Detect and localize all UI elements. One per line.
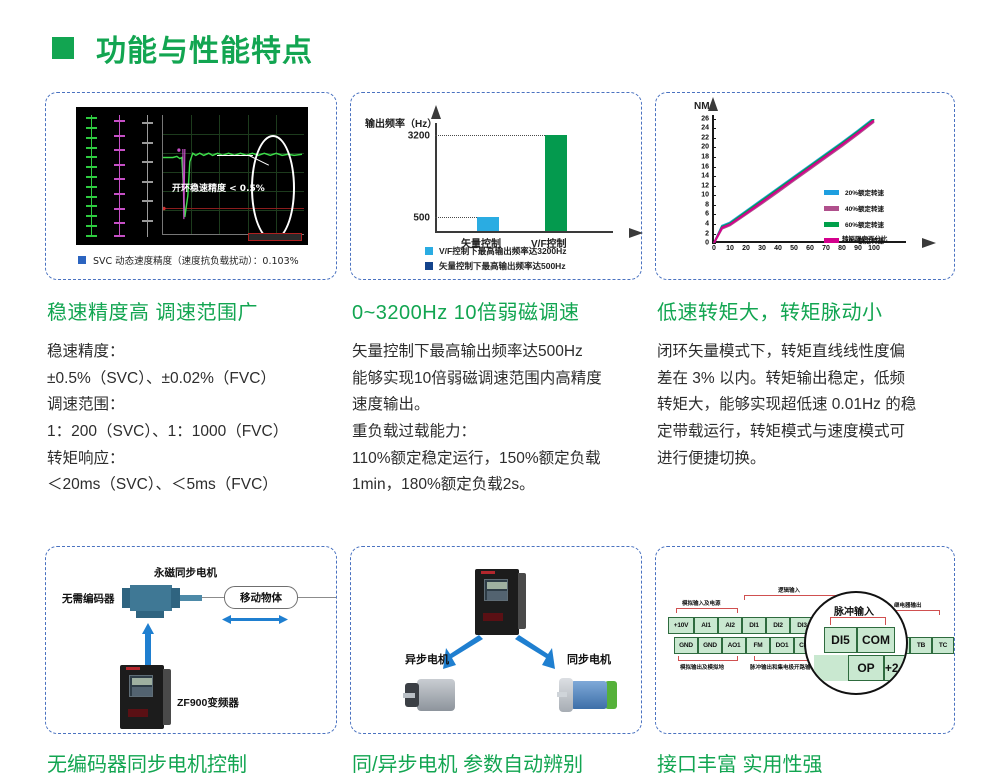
motor-base [136, 611, 164, 618]
motor-body [417, 679, 455, 711]
line-xtick: 40 [774, 245, 782, 252]
bar-gridline-500: 500 [435, 217, 481, 218]
y-axis-arrow-icon [708, 97, 718, 111]
page-header: 功能与性能特点 [52, 26, 313, 70]
vfd-device-image [475, 569, 519, 635]
body-line: 进行便捷切换。 [657, 446, 960, 473]
vfd-keys [487, 591, 507, 600]
legend-swatch-icon [824, 190, 839, 195]
body-line: 调速范围： [47, 392, 350, 419]
card-bar-chart: 输出频率（Hz） 500 3200 矢量控制 V/F控制 [350, 92, 642, 280]
bidirectional-arrow-icon [222, 615, 288, 624]
line-ytick: 6 [705, 211, 709, 218]
bracket-analog-input [676, 608, 738, 613]
body-line: 差在 3% 以内。转矩输出稳定，低频 [657, 366, 960, 393]
legend-swatch-icon [824, 222, 839, 227]
card-scope: 开环稳速精度 < 0.5% SVC 动态速度精度（速度抗负载扰动）：0.103% [45, 92, 337, 280]
vfd-label-mark [483, 613, 503, 621]
legend-label: 40%额定转速 [845, 203, 884, 213]
magnifier-circle: 脉冲输入 DI5 COM OP +24V [804, 591, 908, 695]
bar-chart-x-axis [435, 231, 613, 233]
motor-shaft [403, 693, 415, 698]
vfd-display [132, 678, 152, 685]
line-ytick: 2 [705, 230, 709, 237]
body-line: 转矩响应： [47, 446, 350, 473]
moving-object-box: 移动物体 [224, 586, 298, 609]
line-ytick: 8 [705, 201, 709, 208]
sync-motor-image [557, 675, 623, 717]
async-motor-label: 异步电机 [405, 651, 449, 667]
terminal[interactable]: DI2 [766, 617, 790, 634]
feature-column-5: 异步电机 同步电机 同/异步电机 参数自动辨别 [350, 546, 655, 777]
async-motor-image [403, 675, 465, 717]
bottom-title-2: 同/异步电机 参数自动辨别 [352, 748, 655, 777]
bottom-title-1: 无编码器同步电机控制 [47, 748, 350, 777]
legend-label: 80%额定转速 [845, 235, 884, 245]
terminal-left-filler [814, 655, 848, 681]
line-ytick: 4 [705, 221, 709, 228]
line-xtick: 60 [806, 245, 814, 252]
feature-column-3: NM 0 2 4 6 8 10 12 14 16 18 20 [655, 92, 960, 499]
column-body-1: 稳速精度： ±0.5%（SVC）、±0.02%（FVC） 调速范围： 1：200… [47, 339, 350, 499]
caption-bullet-icon [78, 256, 86, 264]
line-ytick: 0 [705, 240, 709, 247]
vfd-brand-stripe [126, 667, 140, 670]
label-relay-output: 继电器输出 [894, 601, 922, 609]
vfd-keypad [484, 579, 508, 601]
legend-item: 40%额定转速 [824, 203, 884, 213]
legend-label: 60%额定转速 [845, 219, 884, 229]
bracket-pulse-input [830, 617, 886, 625]
body-line: 能够实现10倍弱磁调速范围内高精度 [352, 366, 655, 393]
body-line: ±0.5%（SVC）、±0.02%（FVC） [47, 366, 350, 393]
line-chart-legend: 20%额定转速 40%额定转速 60%额定转速 80%额定转速 [824, 187, 884, 251]
legend-item: V/F控制下最高输出频率达3200Hz [425, 245, 567, 257]
bar-chart-plot: 500 3200 矢量控制 V/F控制 [435, 129, 595, 233]
line-ytick: 20 [701, 144, 709, 151]
motor-body [130, 585, 172, 611]
label-pulse-output: 脉冲输出和集电极开路输出 [750, 663, 816, 671]
motor-shaft [180, 595, 202, 601]
bar-chart-legend: V/F控制下最高输出频率达3200Hz 矢量控制下最高输出频率达500Hz [425, 245, 567, 275]
scope-scale-grey [138, 115, 156, 237]
body-line: 1：200（SVC）、1：1000（FVC） [47, 419, 350, 446]
terminal[interactable]: DI1 [742, 617, 766, 634]
pmsm-motor-label: 永磁同步电机 [154, 565, 217, 580]
arrow-to-sync-motor-icon [513, 635, 555, 673]
terminal-op[interactable]: OP [848, 655, 884, 681]
line-ytick: 18 [701, 154, 709, 161]
line-xtick: 20 [742, 245, 750, 252]
bracket-logic-input [744, 595, 836, 600]
legend-item: 80%额定转速 [824, 235, 884, 245]
label-logic-input: 逻辑输入 [778, 586, 800, 594]
column-body-2: 矢量控制下最高输出频率达500Hz 能够实现10倍弱磁调速范围内高精度 速度输出… [352, 339, 655, 499]
vfd-device-image [120, 665, 164, 729]
motor-body [571, 681, 607, 709]
feature-row-bottom: 永磁同步电机 无需编码器 移动物体 [0, 546, 1000, 777]
sync-motor-label: 同步电机 [567, 651, 611, 667]
legend-label: 20%额定转速 [845, 187, 884, 197]
scope-caption: SVC 动态速度精度（速度抗负载扰动）：0.103% [78, 253, 299, 267]
terminal[interactable]: FM [746, 637, 770, 654]
terminal-block-diagram: 模拟输入及电源 逻辑输入 继电器输出 +10V AI1 AI2 DI1 DI [666, 581, 938, 691]
legend-label: 矢量控制下最高输出频率达500Hz [439, 260, 566, 272]
line-ytick: 16 [701, 163, 709, 170]
motor-shaft [557, 692, 567, 697]
legend-item: 60%额定转速 [824, 219, 884, 229]
legend-item: 矢量控制下最高输出频率达500Hz [425, 260, 567, 272]
line-xtick: 30 [758, 245, 766, 252]
label-analog-input: 模拟输入及电源 [682, 599, 721, 607]
pmsm-encoder-label: 无需编码器 [62, 591, 115, 606]
label-pulse-input: 脉冲输入 [834, 603, 874, 618]
bar-ytick-3200: 3200 [408, 131, 430, 142]
feature-column-6: 模拟输入及电源 逻辑输入 继电器输出 +10V AI1 AI2 DI1 DI [655, 546, 960, 777]
bar-gridline-3200: 3200 [435, 135, 559, 136]
y-axis-arrow-icon [431, 105, 441, 119]
body-line: 稳速精度： [47, 339, 350, 366]
feature-column-4: 永磁同步电机 无需编码器 移动物体 [45, 546, 350, 777]
body-line: ＜20ms（SVC）、＜5ms（FVC） [47, 472, 350, 499]
terminal[interactable]: AO1 [722, 637, 746, 654]
body-line: 110%额定稳定运行，150%额定负载 [352, 446, 655, 473]
card-pmsm-diagram: 永磁同步电机 无需编码器 移动物体 [45, 546, 337, 734]
page-root: 功能与性能特点 [0, 0, 1000, 782]
scope-scale-magenta [110, 115, 128, 237]
terminal[interactable]: GND [674, 637, 698, 654]
scope-annotation: 开环稳速精度 < 0.5% [172, 181, 265, 194]
line-ytick: 10 [701, 192, 709, 199]
vfd-keypad [129, 675, 153, 697]
vfd-display [487, 582, 507, 589]
scope-plot-area [162, 115, 304, 235]
scope-scale-green [82, 115, 100, 237]
pmsm-vfd-label: ZF900变频器 [177, 695, 239, 710]
terminal-di5[interactable]: DI5 [824, 627, 857, 653]
up-arrow-icon [142, 623, 154, 667]
line-ytick: 12 [701, 182, 709, 189]
bar-ytick-500: 500 [413, 213, 430, 224]
terminal-com[interactable]: COM [857, 627, 895, 653]
oscilloscope-image: 开环稳速精度 < 0.5% [76, 107, 308, 245]
line-xtick: 50 [790, 245, 798, 252]
vfd-side-panel [518, 573, 526, 629]
column-body-3: 闭环矢量模式下，转矩直线线性度偏 差在 3% 以内。转矩输出稳定，低频 转矩大，… [657, 339, 960, 472]
line-xtick: 0 [712, 245, 716, 252]
header-bullet-icon [52, 37, 74, 59]
line-ytick: 24 [701, 125, 709, 132]
card-line-chart: NM 0 2 4 6 8 10 12 14 16 18 20 [655, 92, 955, 280]
line-ytick: 14 [701, 173, 709, 180]
card-motor-types: 异步电机 同步电机 [350, 546, 642, 734]
line-xtick: 10 [726, 245, 734, 252]
bracket-analog-output [678, 656, 738, 661]
x-axis-arrow-icon [922, 238, 936, 248]
vfd-keys [132, 687, 152, 696]
legend-item: 20%额定转速 [824, 187, 884, 197]
body-line: 矢量控制下最高输出频率达500Hz [352, 339, 655, 366]
card-terminal-block: 模拟输入及电源 逻辑输入 继电器输出 +10V AI1 AI2 DI1 DI [655, 546, 955, 734]
legend-swatch-icon [425, 262, 433, 270]
bar-vector-control [477, 217, 499, 231]
body-line: 转矩大，能够实现超低速 0.01Hz 的稳 [657, 392, 960, 419]
scope-caption-text: SVC 动态速度精度（速度抗负载扰动）：0.103% [93, 253, 299, 267]
terminal[interactable]: AI2 [718, 617, 742, 634]
bar-vf-control [545, 135, 567, 231]
vfd-brand-stripe [481, 571, 495, 574]
x-axis-arrow-icon [629, 228, 643, 238]
arrow-to-async-motor-icon [443, 635, 483, 673]
terminal[interactable]: GND [698, 637, 722, 654]
body-line: 1min，180%额定负载2s。 [352, 472, 655, 499]
legend-swatch-icon [824, 238, 839, 243]
column-title-1: 稳速精度高 调速范围广 [47, 296, 350, 325]
terminal[interactable]: DO1 [770, 637, 794, 654]
terminal[interactable]: TC [932, 637, 954, 654]
motor-end-cap-right [171, 588, 180, 608]
terminal-row-bottom: GND GND AO1 FM DO1 CME [674, 637, 818, 654]
body-line: 定带载运行，转矩模式与速度模式可 [657, 419, 960, 446]
terminal[interactable]: AI1 [694, 617, 718, 634]
feature-column-2: 输出频率（Hz） 500 3200 矢量控制 V/F控制 [350, 92, 655, 499]
vfd-side-panel [163, 669, 171, 725]
scope-legend-tag [248, 233, 302, 241]
line-ytick: 22 [701, 134, 709, 141]
bar-chart-ylabel: 输出频率（Hz） [365, 115, 437, 130]
terminal[interactable]: +10V [668, 617, 694, 634]
column-title-3: 低速转矩大，转矩脉动小 [657, 296, 960, 325]
body-line: 重负载过载能力： [352, 419, 655, 446]
label-analog-output: 模拟输出及模拟地 [680, 663, 724, 671]
body-line: 闭环矢量模式下，转矩直线线性度偏 [657, 339, 960, 366]
page-title: 功能与性能特点 [96, 26, 313, 70]
feature-column-1: 开环稳速精度 < 0.5% SVC 动态速度精度（速度抗负载扰动）：0.103%… [45, 92, 350, 499]
body-line: 速度输出。 [352, 392, 655, 419]
terminal-24v[interactable]: +24V [884, 655, 908, 681]
line-ytick: 26 [701, 116, 709, 123]
column-title-2: 0~3200Hz 10倍弱磁调速 [352, 296, 655, 325]
legend-label: V/F控制下最高输出频率达3200Hz [439, 245, 567, 257]
feature-row-top: 开环稳速精度 < 0.5% SVC 动态速度精度（速度抗负载扰动）：0.103%… [0, 92, 1000, 499]
vfd-label-mark [128, 709, 148, 717]
terminal[interactable]: TB [910, 637, 932, 654]
legend-swatch-icon [824, 206, 839, 211]
legend-swatch-icon [425, 247, 433, 255]
bottom-title-3: 接口丰富 实用性强 [657, 748, 960, 777]
